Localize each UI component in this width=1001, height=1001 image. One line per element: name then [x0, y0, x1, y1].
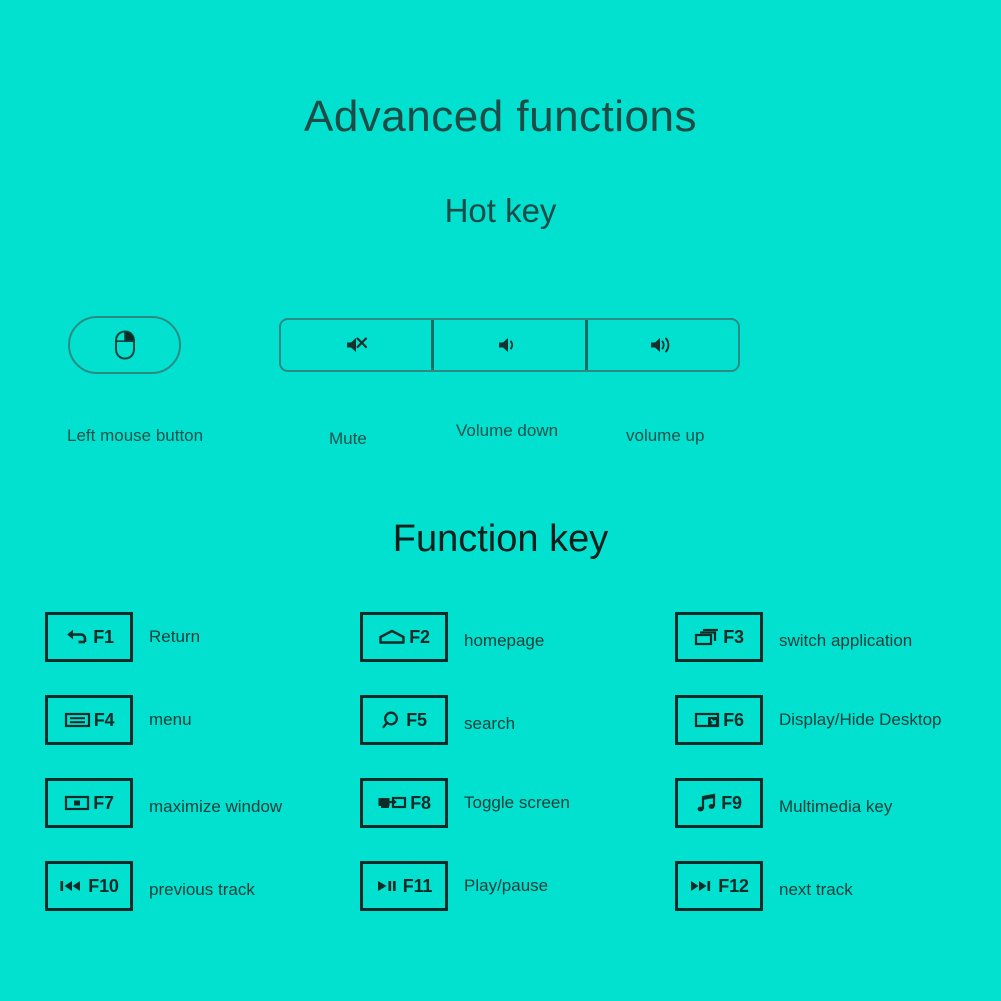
hot-key-heading: Hot key: [0, 192, 1001, 230]
function-key-label: homepage: [464, 631, 544, 651]
function-key-cap-f12[interactable]: F12: [675, 861, 763, 911]
advanced-functions-page: Advanced functions Hot key: [0, 0, 1001, 1001]
function-key-code: F11: [403, 877, 432, 895]
hot-key-volume-down[interactable]: [431, 320, 584, 370]
function-key-code: F8: [410, 794, 431, 812]
function-key-item-f7[interactable]: F7 maximize window: [45, 778, 282, 828]
function-key-code: F12: [718, 877, 748, 895]
return-arrow-icon: [64, 628, 90, 646]
function-key-row: F1 Return F2 homepage: [0, 612, 1001, 695]
menu-list-icon: [64, 711, 91, 729]
hot-key-label-mute: Mute: [329, 429, 367, 449]
function-key-row: F7 maximize window F8: [0, 778, 1001, 861]
hot-key-label-left-mouse-button: Left mouse button: [67, 426, 203, 446]
function-key-cap-f4[interactable]: F4: [45, 695, 133, 745]
function-key-code: F5: [406, 711, 427, 729]
function-key-item-f12[interactable]: F12 next track: [675, 861, 853, 911]
volume-down-icon: [496, 334, 522, 356]
function-key-label: Multimedia key: [779, 797, 892, 817]
function-key-label: next track: [779, 880, 853, 900]
function-key-item-f4[interactable]: F4 menu: [45, 695, 192, 745]
function-key-cap-f7[interactable]: F7: [45, 778, 133, 828]
previous-track-icon: [59, 878, 85, 894]
function-key-item-f1[interactable]: F1 Return: [45, 612, 200, 662]
hot-key-label-volume-up: volume up: [626, 426, 704, 446]
function-key-label: Play/pause: [464, 876, 548, 896]
show-desktop-icon: [694, 711, 720, 729]
function-key-code: F1: [93, 628, 114, 646]
function-key-item-f8[interactable]: F8 Toggle screen: [360, 778, 570, 828]
page-title: Advanced functions: [0, 92, 1001, 142]
next-track-icon: [689, 878, 715, 894]
function-key-code: F3: [723, 628, 744, 646]
volume-key-bar: [279, 318, 740, 372]
mute-icon: [344, 334, 368, 356]
maximize-window-icon: [64, 794, 90, 812]
function-key-section: F1 Return F2 homepage: [0, 612, 1001, 944]
function-key-label: previous track: [149, 880, 255, 900]
function-key-item-f9[interactable]: F9 Multimedia key: [675, 778, 892, 828]
function-key-cap-f5[interactable]: F5: [360, 695, 448, 745]
function-key-label: Display/Hide Desktop: [779, 710, 942, 730]
function-key-item-f5[interactable]: F5 search: [360, 695, 515, 745]
function-key-code: F10: [88, 877, 118, 895]
function-key-cap-f3[interactable]: F3: [675, 612, 763, 662]
music-note-icon: [696, 793, 718, 813]
function-key-cap-f10[interactable]: F10: [45, 861, 133, 911]
mouse-left-button-icon: [114, 330, 136, 360]
function-key-cap-f1[interactable]: F1: [45, 612, 133, 662]
toggle-screen-icon: [377, 794, 407, 812]
function-key-cap-f6[interactable]: F6: [675, 695, 763, 745]
home-icon: [378, 628, 406, 646]
hot-key-volume-up[interactable]: [585, 320, 738, 370]
function-key-label: search: [464, 714, 515, 734]
function-key-code: F9: [721, 794, 742, 812]
function-key-item-f2[interactable]: F2 homepage: [360, 612, 544, 662]
play-pause-icon: [376, 878, 400, 894]
hot-key-section: Left mouse button Mute Volume down volum…: [0, 316, 1001, 476]
function-key-label: switch application: [779, 631, 912, 651]
hot-key-label-volume-down: Volume down: [456, 421, 558, 441]
function-key-label: Toggle screen: [464, 793, 570, 813]
function-key-code: F2: [409, 628, 430, 646]
function-key-item-f3[interactable]: F3 switch application: [675, 612, 912, 662]
function-key-cap-f11[interactable]: F11: [360, 861, 448, 911]
volume-up-icon: [648, 334, 678, 356]
function-key-code: F4: [94, 711, 115, 729]
function-key-cap-f2[interactable]: F2: [360, 612, 448, 662]
function-key-code: F6: [723, 711, 744, 729]
function-key-label: menu: [149, 710, 192, 730]
function-key-heading: Function key: [0, 518, 1001, 561]
switch-windows-icon: [694, 627, 720, 647]
function-key-item-f10[interactable]: F10 previous track: [45, 861, 255, 911]
search-icon: [381, 710, 403, 730]
function-key-item-f11[interactable]: F11 Play/pause: [360, 861, 548, 911]
function-key-label: Return: [149, 627, 200, 647]
hot-key-left-mouse-button[interactable]: [68, 316, 181, 374]
function-key-cap-f9[interactable]: F9: [675, 778, 763, 828]
function-key-cap-f8[interactable]: F8: [360, 778, 448, 828]
function-key-row: F4 menu F5 search: [0, 695, 1001, 778]
hot-key-mute[interactable]: [281, 320, 431, 370]
function-key-item-f6[interactable]: F6 Display/Hide Desktop: [675, 695, 942, 745]
function-key-row: F10 previous track F11 Play/pause: [0, 861, 1001, 944]
function-key-label: maximize window: [149, 797, 282, 817]
function-key-code: F7: [93, 794, 114, 812]
